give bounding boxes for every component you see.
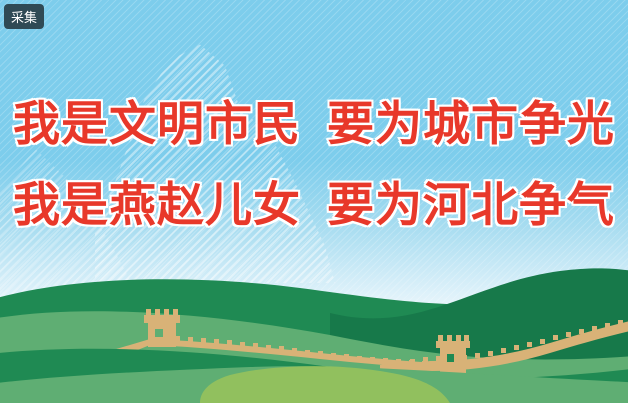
great-wall-tower-left-window bbox=[155, 329, 163, 337]
slogan-line-1: 我是文明市民要为城市争光 bbox=[0, 101, 628, 148]
great-wall-tower-right-window bbox=[447, 354, 454, 362]
poster-canvas: 我是文明市民要为城市争光 我是燕赵儿女要为河北争气 采集 bbox=[0, 0, 628, 403]
slogan-line-2: 我是燕赵儿女要为河北争气 bbox=[0, 182, 628, 229]
slogan-line-2-left: 我是燕赵儿女 bbox=[13, 182, 301, 229]
slogan-line-2-right: 要为河北争气 bbox=[327, 182, 615, 229]
slogan-line-1-right: 要为城市争光 bbox=[327, 101, 615, 148]
landscape-illustration bbox=[0, 243, 628, 403]
capture-button[interactable]: 采集 bbox=[4, 4, 44, 29]
slogan-line-1-left: 我是文明市民 bbox=[13, 101, 301, 148]
